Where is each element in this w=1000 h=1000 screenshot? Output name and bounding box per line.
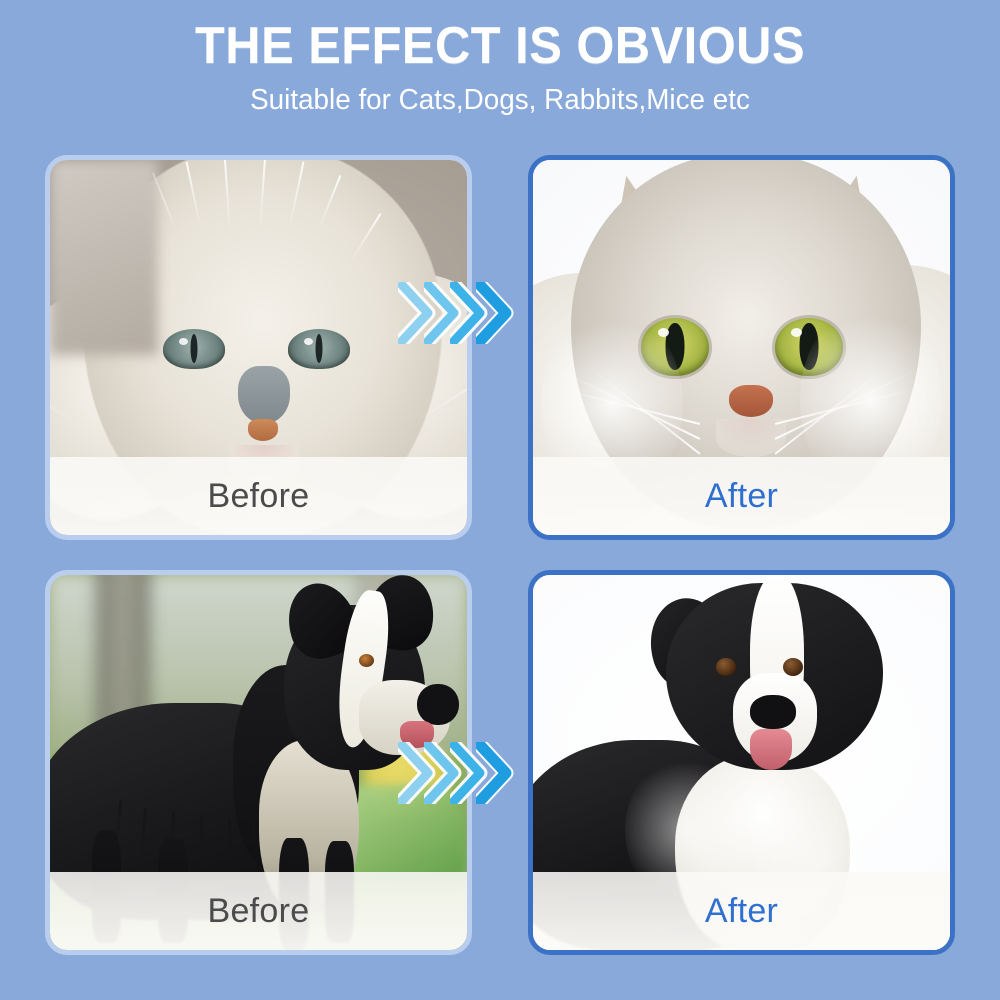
cat-after-label-band: After xyxy=(533,457,950,535)
page-subtitle: Suitable for Cats,Dogs, Rabbits,Mice etc xyxy=(20,82,980,118)
cat-after-label: After xyxy=(705,477,778,516)
dog-after-card[interactable]: After xyxy=(528,570,955,955)
cat-before-label-band: Before xyxy=(50,457,467,535)
page-title: THE EFFECT IS OBVIOUS xyxy=(30,18,970,74)
dog-after-label: After xyxy=(705,892,778,931)
dog-before-label-band: Before xyxy=(50,872,467,950)
cat-after-card[interactable]: After xyxy=(528,155,955,540)
comparison-grid: Before xyxy=(45,155,955,955)
dog-before-label: Before xyxy=(208,892,310,931)
cat-before-label: Before xyxy=(208,477,310,516)
header: THE EFFECT IS OBVIOUS Suitable for Cats,… xyxy=(0,0,1000,118)
dog-after-label-band: After xyxy=(533,872,950,950)
cat-before-card[interactable]: Before xyxy=(45,155,472,540)
dog-before-card[interactable]: Before xyxy=(45,570,472,955)
